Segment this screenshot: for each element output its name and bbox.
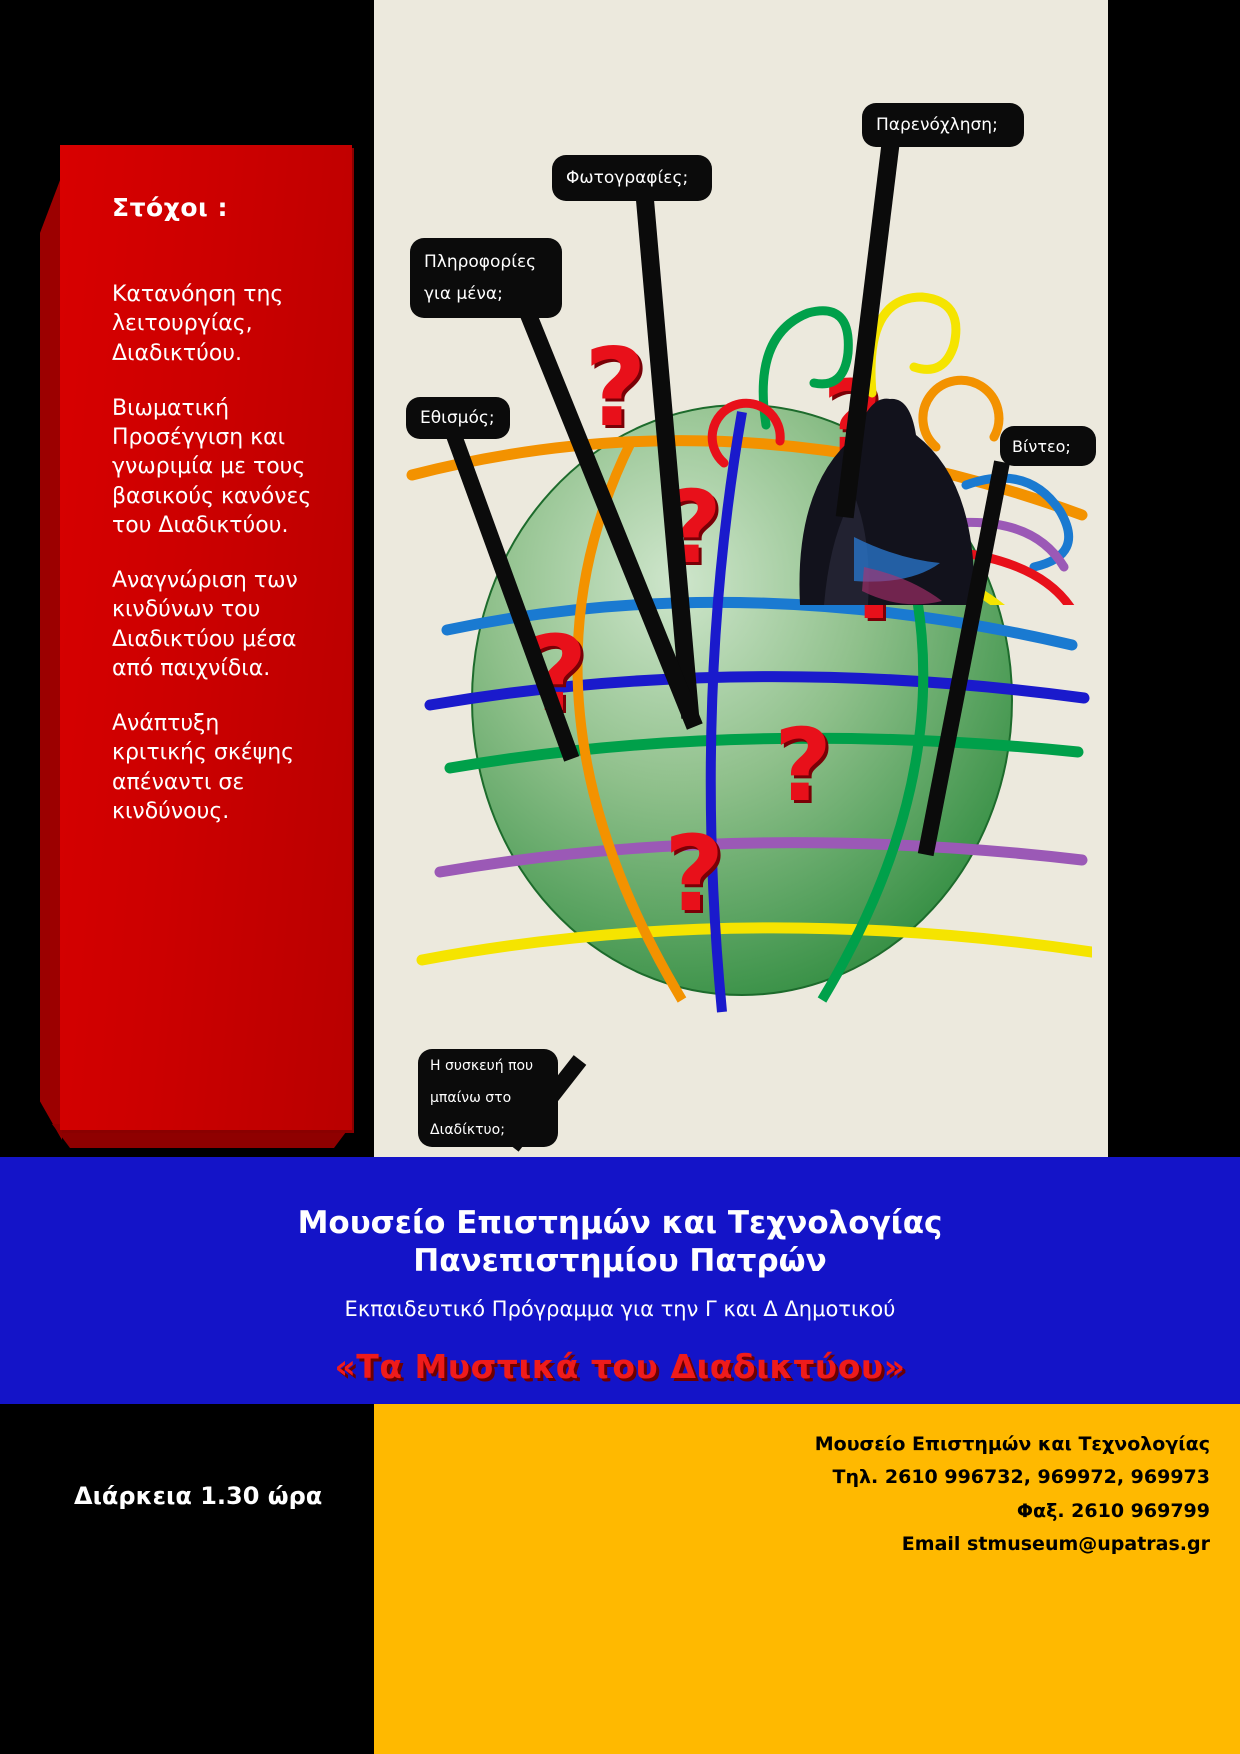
objectives-box-side-face bbox=[40, 175, 62, 1140]
svg-text:?: ? bbox=[664, 813, 724, 935]
duration-label: Διάρκεια 1.30 ώρα bbox=[74, 1482, 322, 1510]
objective-item-4: Ανάπτυξη κριτικής σκέψης απέναντι σε κιν… bbox=[112, 709, 317, 826]
bubble-device[interactable]: Η συσκευή που μπαίνω στο Διαδίκτυο; bbox=[418, 1049, 558, 1147]
bubble-info-line-1: Πληροφορίες bbox=[424, 246, 548, 278]
contact-line-3: Φαξ. 2610 969799 bbox=[815, 1495, 1210, 1528]
contact-block: Μουσείο Επιστημών και Τεχνολογίας Τηλ. 2… bbox=[815, 1428, 1210, 1561]
objective-item-3: Αναγνώριση των κινδύνων του Διαδικτύου μ… bbox=[112, 566, 317, 683]
objective-item-2: Βιωματική Προσέγγιση και γνωριμία με του… bbox=[112, 394, 317, 540]
contact-line-2: Τηλ. 2610 996732, 969972, 969973 bbox=[815, 1461, 1210, 1494]
program-subtitle: Εκπαιδευτικό Πρόγραμμα για την Γ και Δ Δ… bbox=[0, 1297, 1240, 1321]
bubble-photos-line-1: Φωτογραφίες; bbox=[566, 168, 698, 188]
bubble-device-line-1: Η συσκευή που bbox=[430, 1050, 546, 1082]
contact-panel: Μουσείο Επιστημών και Τεχνολογίας Τηλ. 2… bbox=[374, 1404, 1240, 1754]
svg-text:?: ? bbox=[584, 326, 647, 451]
bubble-device-line-2: μπαίνω στο bbox=[430, 1082, 546, 1114]
bubble-video[interactable]: Βίντεο; bbox=[1000, 426, 1096, 466]
bubble-video-line-1: Βίντεο; bbox=[1012, 437, 1084, 456]
bubble-info-line-2: για μένα; bbox=[424, 278, 548, 310]
bubble-addiction-line-1: Εθισμός; bbox=[420, 408, 496, 428]
bubble-harassment-line-1: Παρενόχληση; bbox=[876, 115, 1010, 135]
museum-banner: Μουσείο Επιστημών και Τεχνολογίας Πανεπι… bbox=[0, 1157, 1240, 1404]
contact-line-4: Email stmuseum@upatras.gr bbox=[815, 1528, 1210, 1561]
program-title: «Τα Μυστικά του Διαδικτύου» bbox=[0, 1347, 1240, 1386]
poster-root: ? ? ? ? ? ? ? ? ? ? ? ? ? ? bbox=[0, 0, 1240, 1754]
museum-name-line-2: Πανεπιστημίου Πατρών bbox=[0, 1243, 1240, 1281]
museum-name-line-1: Μουσείο Επιστημών και Τεχνολογίας bbox=[0, 1205, 1240, 1243]
artwork-panel: ? ? ? ? ? ? ? ? ? ? ? ? ? ? bbox=[374, 0, 1108, 1157]
bubble-info-about-me[interactable]: Πληροφορίες για μένα; bbox=[410, 238, 562, 318]
objectives-box: Στόχοι : Κατανόηση της λειτουργίας, Διαδ… bbox=[60, 145, 352, 1130]
contact-line-1: Μουσείο Επιστημών και Τεχνολογίας bbox=[815, 1428, 1210, 1461]
svg-text:?: ? bbox=[774, 707, 832, 824]
right-black-margin bbox=[1108, 0, 1240, 1157]
objectives-title: Στόχοι : bbox=[112, 193, 328, 222]
bubble-harassment[interactable]: Παρενόχληση; bbox=[862, 103, 1024, 147]
bubble-device-line-3: Διαδίκτυο; bbox=[430, 1114, 546, 1146]
objective-item-1: Κατανόηση της λειτουργίας, Διαδικτύου. bbox=[112, 280, 317, 368]
bubble-photos[interactable]: Φωτογραφίες; bbox=[552, 155, 712, 201]
bubble-addiction[interactable]: Εθισμός; bbox=[406, 397, 510, 439]
footer-bar: Μουσείο Επιστημών και Τεχνολογίας Τηλ. 2… bbox=[0, 1404, 1240, 1754]
